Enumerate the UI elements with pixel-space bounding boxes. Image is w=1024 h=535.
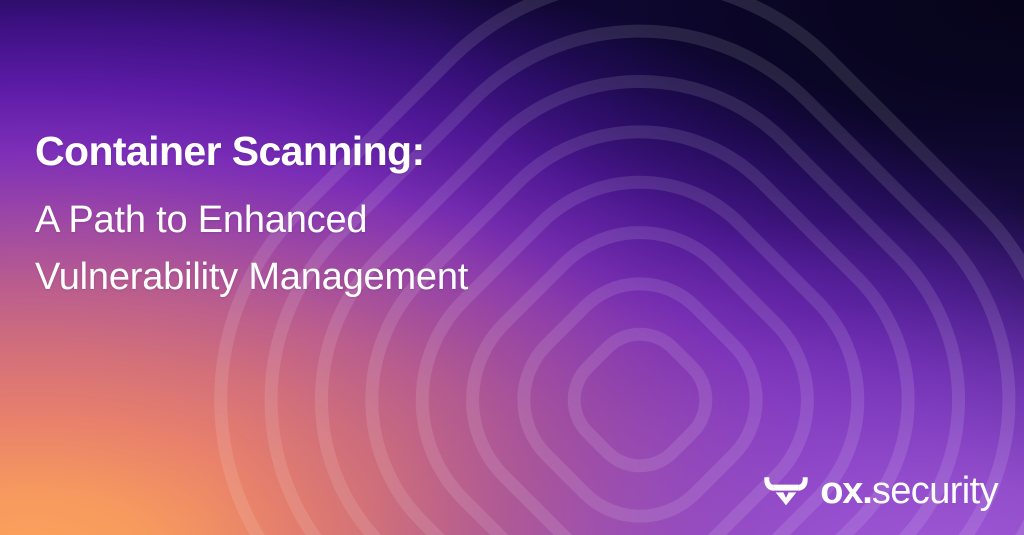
logo-word-security: security <box>872 472 998 510</box>
logo-word-dot: . <box>862 472 872 510</box>
ox-bull-head-icon <box>763 476 809 506</box>
headline-block: Container Scanning: A Path to Enhanced V… <box>35 128 695 307</box>
subtitle-line-2: Vulnerability Management <box>35 249 695 307</box>
ox-security-logo: ox.security <box>763 469 998 513</box>
logo-wordmark: ox.security <box>820 472 998 510</box>
logo-word-ox: ox <box>820 472 862 510</box>
subtitle-line-1: A Path to Enhanced <box>35 192 695 250</box>
page-title: Container Scanning: <box>35 128 695 176</box>
banner-canvas: Container Scanning: A Path to Enhanced V… <box>0 0 1024 535</box>
